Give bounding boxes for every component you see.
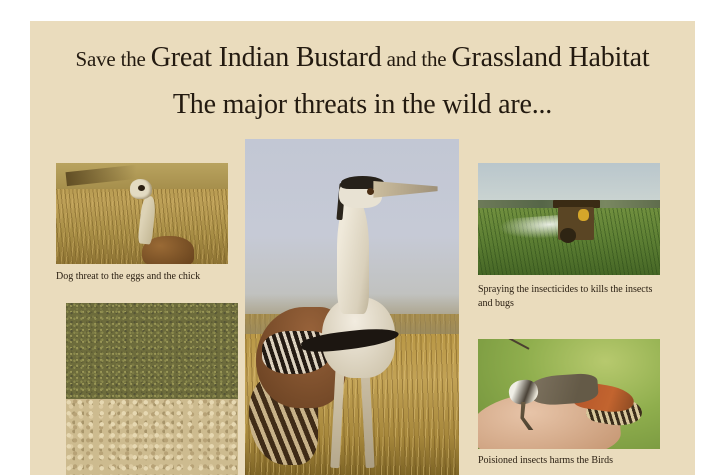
headline-habitat-name: Grassland Habitat [451,42,649,73]
bustard-photo-scene [245,139,459,475]
headline-and-the: and the [382,47,452,71]
poster-headline: Save the Great Indian Bustard and the Gr… [30,21,695,119]
seed-photo-scene [66,303,238,475]
conservation-poster: Save the Great Indian Bustard and the Gr… [30,21,695,475]
grasshopper-photo-scene [478,339,660,449]
caption-poisoned-insect: Poisioned insects harms the Birds [478,454,668,468]
photo-poisoned-insect [478,339,660,449]
cream-grain-texture [66,399,238,475]
photo-dog-threat [56,163,228,264]
photo-great-indian-bustard [245,139,459,475]
bustard-eye [367,188,374,195]
dog-photo-scene [56,163,228,264]
spray-photo-scene [478,163,660,275]
green-seed-texture [66,303,238,399]
headline-save-the: Save the [76,47,151,71]
photo-insecticide-spraying [478,163,660,275]
headline-species-name: Great Indian Bustard [151,42,382,73]
photo-seed-grain [66,303,238,475]
caption-insecticide-spraying: Spraying the insecticides to kills the i… [478,283,658,310]
pesticide-spray-mist [499,215,562,242]
headline-subtitle: The major threats in the wild are... [173,89,552,120]
tractor-wheel [560,228,576,243]
headline-line-2: The major threats in the wild are... [30,91,695,119]
caption-dog-threat: Dog threat to the eggs and the chick [56,270,256,284]
headline-line-1: Save the Great Indian Bustard and the Gr… [30,44,695,72]
bird-eye [138,185,145,191]
tractor-driver [578,209,589,221]
